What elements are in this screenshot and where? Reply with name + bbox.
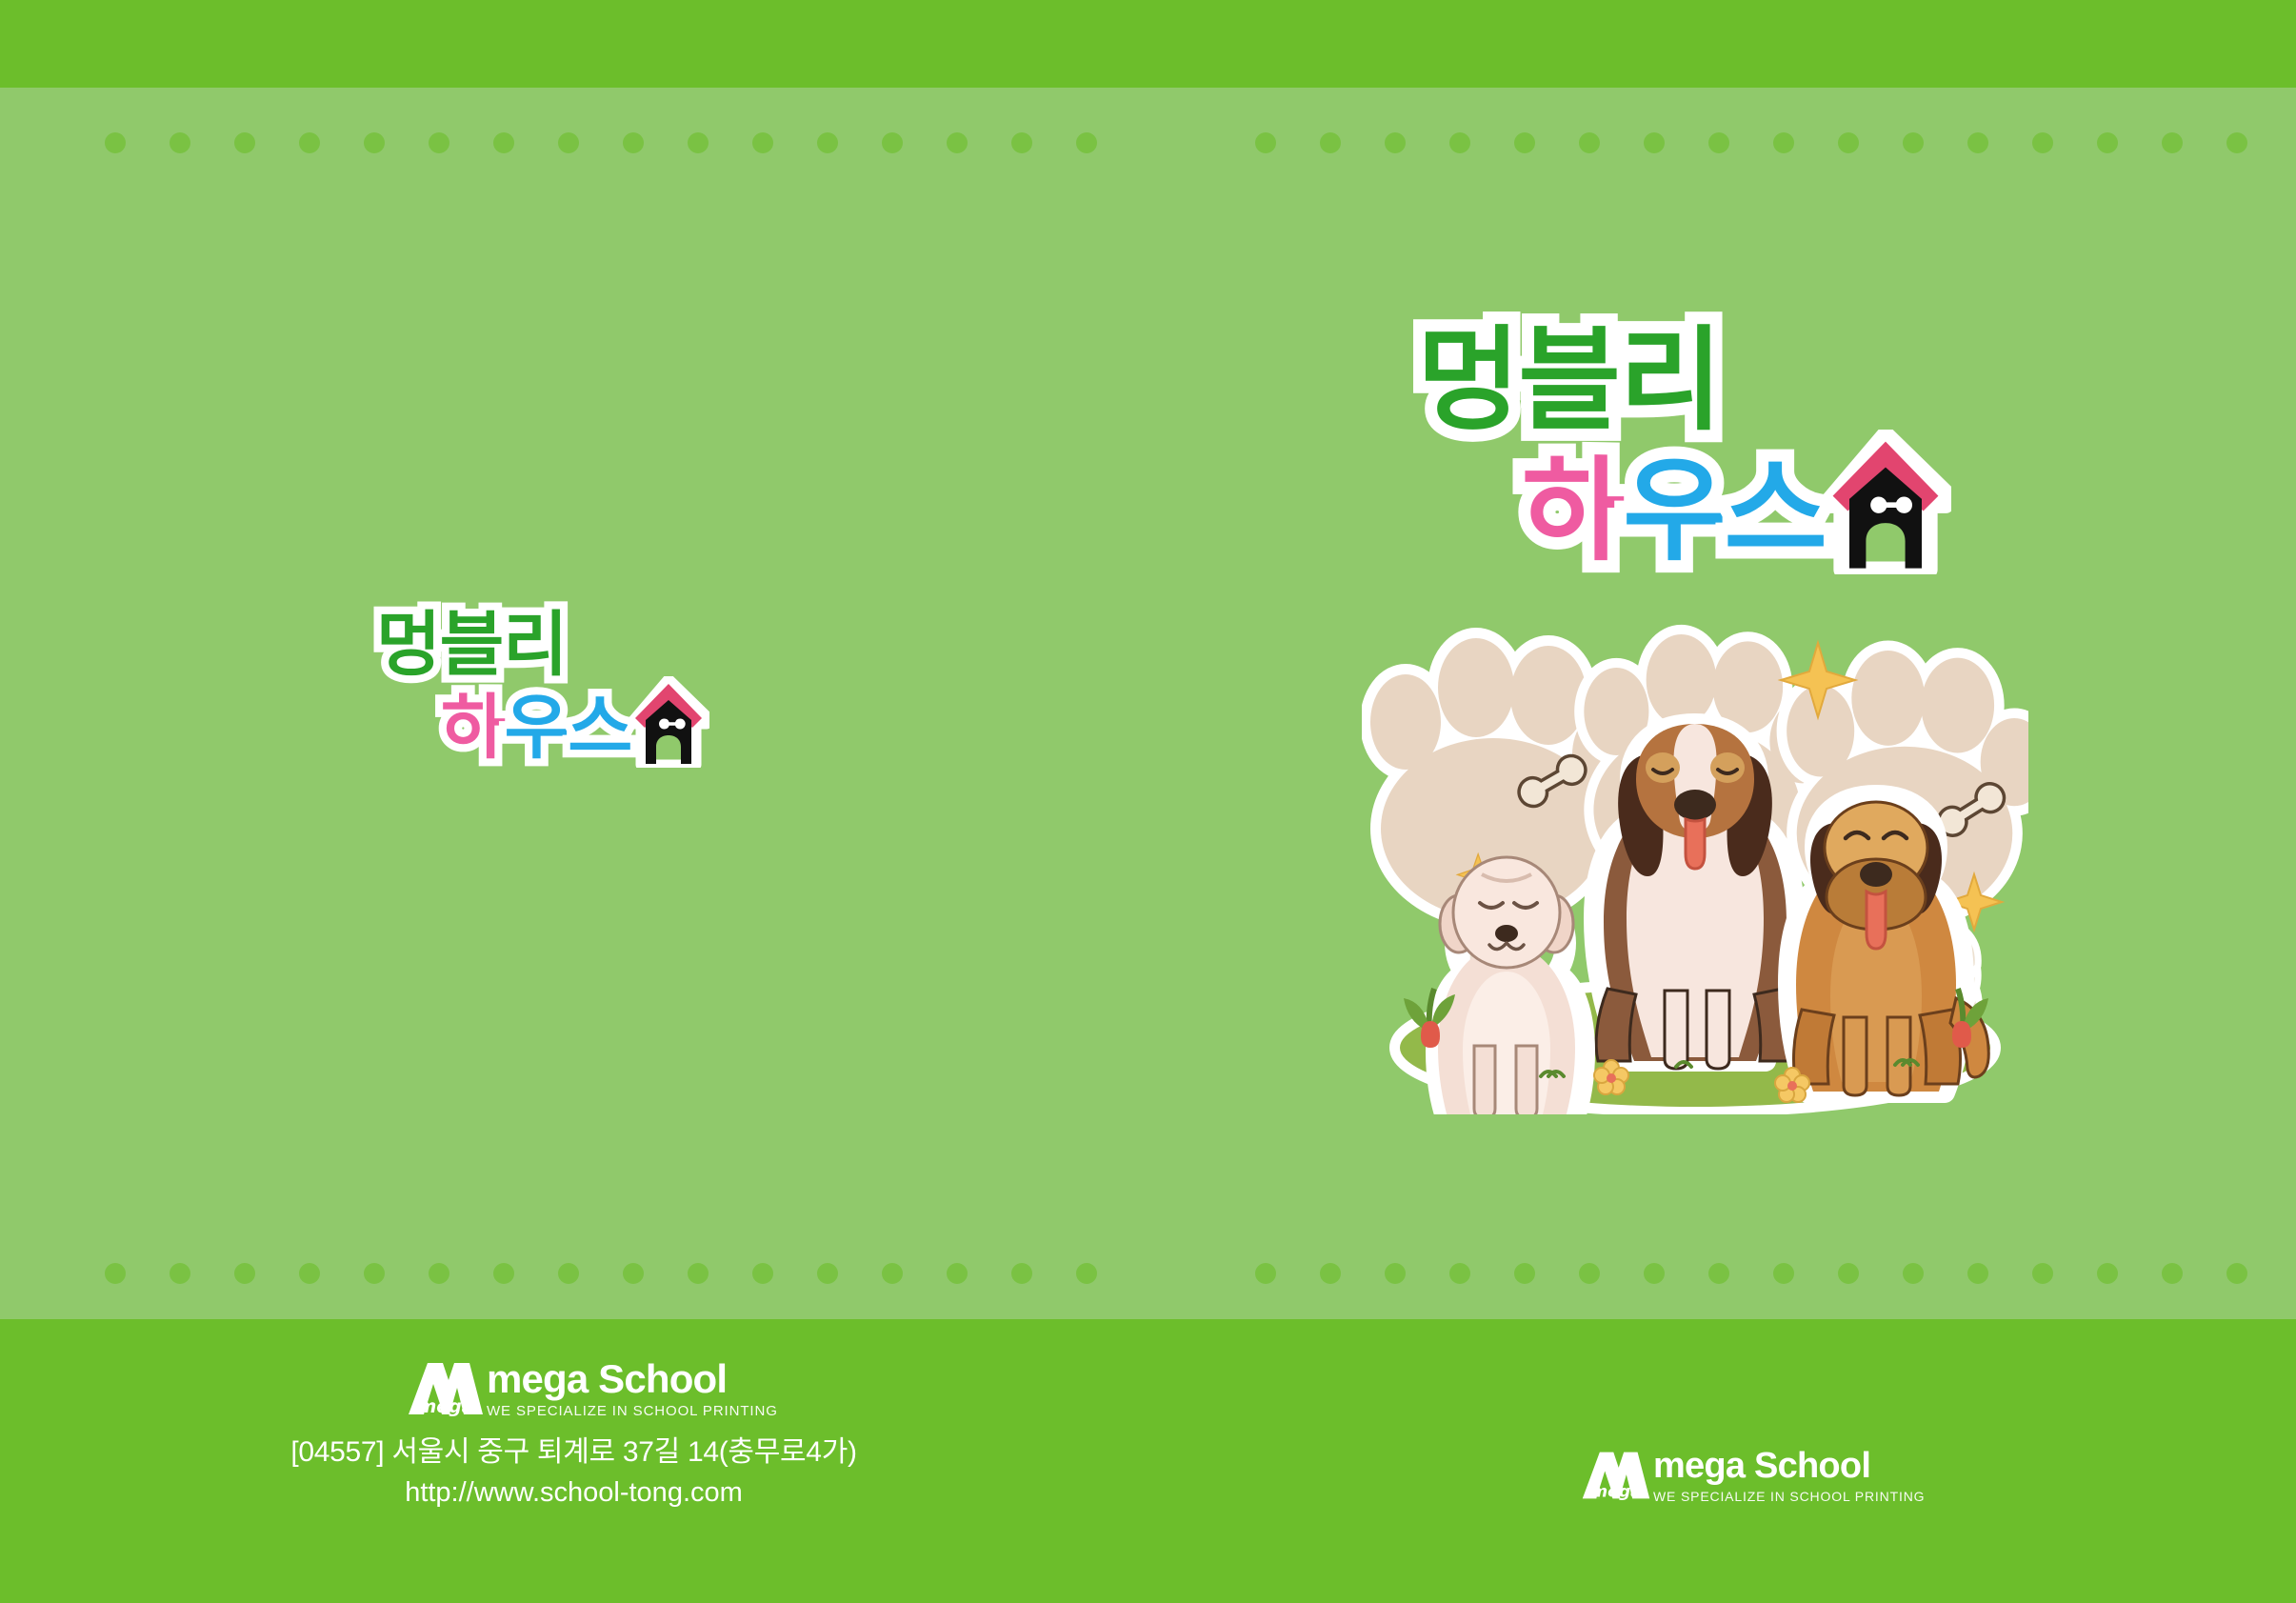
title-char: 우 [1623,454,1724,567]
border-dot [2032,1263,2053,1284]
border-dot [558,132,579,153]
border-dot [1076,1263,1097,1284]
border-dot [1838,132,1859,153]
border-dot [1385,1263,1406,1284]
border-dot [493,1263,514,1284]
doghouse-icon [628,676,709,768]
border-dot [429,1263,449,1284]
dog-tongue [1686,819,1705,869]
border-dot [947,132,968,153]
border-dot [2032,132,2053,153]
border-dot [299,132,320,153]
border-dot [170,1263,190,1284]
border-dot [1011,1263,1032,1284]
border-dot [1320,1263,1341,1284]
border-dot [623,132,644,153]
back-title-line2: 하 우 스 [367,676,709,763]
border-dot [1320,132,1341,153]
title-char: 멍 [376,610,440,680]
border-dot [1011,132,1032,153]
back-title-line1: 멍 블 리 [367,610,709,680]
front-title-line2: 하 우 스 [1400,430,1951,567]
border-dot [1579,1263,1600,1284]
border-dot [947,1263,968,1284]
front-cover-title-logo: 멍 블 리 하 우 스 [1400,324,1951,567]
dot-row-bottom-left [105,1262,1141,1285]
border-dot [1903,132,1924,153]
border-dot [1903,1263,1924,1284]
border-dot [364,1263,385,1284]
mega-mark-icon: mega [405,1359,487,1418]
border-dot [1708,1263,1729,1284]
border-dot [688,132,709,153]
border-dot [1967,1263,1988,1284]
back-cover-title-logo: 멍 블 리 하 우 스 [367,610,709,763]
border-dot [1773,1263,1794,1284]
border-dot [623,1263,644,1284]
title-char: 리 [1619,324,1720,436]
border-dot [752,132,773,153]
border-dot [882,1263,903,1284]
border-dot [1708,132,1729,153]
border-dot [2162,132,2183,153]
company-address: [04557] 서울시 중구 퇴계로 37길 14(충무로4가) [0,1433,1148,1473]
title-char: 멍 [1417,324,1518,436]
back-mega-school-logo: mega mega School WE SPECIALIZE IN SCHOOL… [405,1358,778,1419]
svg-text:mega: mega [417,1396,473,1417]
mega-brand-text: mega School [1653,1448,1925,1486]
border-dot [1255,132,1276,153]
mega-brand-text: mega School [487,1358,778,1400]
title-char: 스 [568,692,631,763]
mega-wordmark: mega School WE SPECIALIZE IN SCHOOL PRIN… [487,1358,778,1419]
mega-wordmark: mega School WE SPECIALIZE IN SCHOOL PRIN… [1653,1448,1925,1504]
border-dot [105,1263,126,1284]
dot-row-bottom-right [1255,1262,2291,1285]
front-title-line1: 멍 블 리 [1400,324,1951,436]
border-dot [2226,1263,2247,1284]
border-dot [558,1263,579,1284]
border-dot [1514,1263,1535,1284]
footer-contact-block: [04557] 서울시 중구 퇴계로 37길 14(충무로4가) http://… [0,1433,1148,1513]
border-dot [2226,132,2247,153]
title-char: 하 [441,692,505,763]
dog-tongue [1867,892,1886,949]
dog-nose [1674,790,1716,820]
mega-mark-icon: mega [1579,1449,1653,1502]
border-dot [1967,132,1988,153]
three-dogs-illustration [1362,610,2028,1114]
border-dot [1385,132,1406,153]
border-dot [1514,132,1535,153]
dog-beagle [1594,724,1794,1069]
border-dot [882,132,903,153]
border-dot [170,132,190,153]
doghouse-icon [1820,430,1951,574]
border-dot [1449,1263,1470,1284]
border-dot [1076,132,1097,153]
top-band [0,0,2296,88]
title-char: 리 [503,610,567,680]
dog-nose [1860,862,1892,887]
mega-tagline-text: WE SPECIALIZE IN SCHOOL PRINTING [487,1403,778,1419]
border-dot [105,132,126,153]
border-dot [817,1263,838,1284]
border-dot [1449,132,1470,153]
title-char: 우 [505,692,569,763]
svg-text:mega: mega [1590,1483,1641,1502]
border-dot [2097,132,2118,153]
border-dot [688,1263,709,1284]
mega-tagline-text: WE SPECIALIZE IN SCHOOL PRINTING [1653,1489,1925,1504]
border-dot [364,132,385,153]
border-dot [234,132,255,153]
border-dot [817,132,838,153]
border-dot [1255,1263,1276,1284]
border-dot [1838,1263,1859,1284]
dot-row-top-right [1255,131,2291,154]
title-char: 블 [1518,324,1619,436]
title-char: 하 [1522,454,1623,567]
border-dot [1773,132,1794,153]
title-char: 스 [1724,454,1825,567]
border-dot [1579,132,1600,153]
border-dot [1644,132,1665,153]
dot-row-top-left [105,131,1141,154]
border-dot [2097,1263,2118,1284]
border-dot [2162,1263,2183,1284]
border-dot [299,1263,320,1284]
company-website[interactable]: http://www.school-tong.com [0,1473,1148,1513]
border-dot [752,1263,773,1284]
dog-nose [1495,925,1518,942]
border-dot [429,132,449,153]
border-dot [1644,1263,1665,1284]
border-dot [493,132,514,153]
title-char: 블 [440,610,504,680]
border-dot [234,1263,255,1284]
notebook-cover: 멍 블 리 하 우 스 mega [0,0,2296,1603]
front-mega-school-logo: mega mega School WE SPECIALIZE IN SCHOOL… [1579,1448,1925,1504]
